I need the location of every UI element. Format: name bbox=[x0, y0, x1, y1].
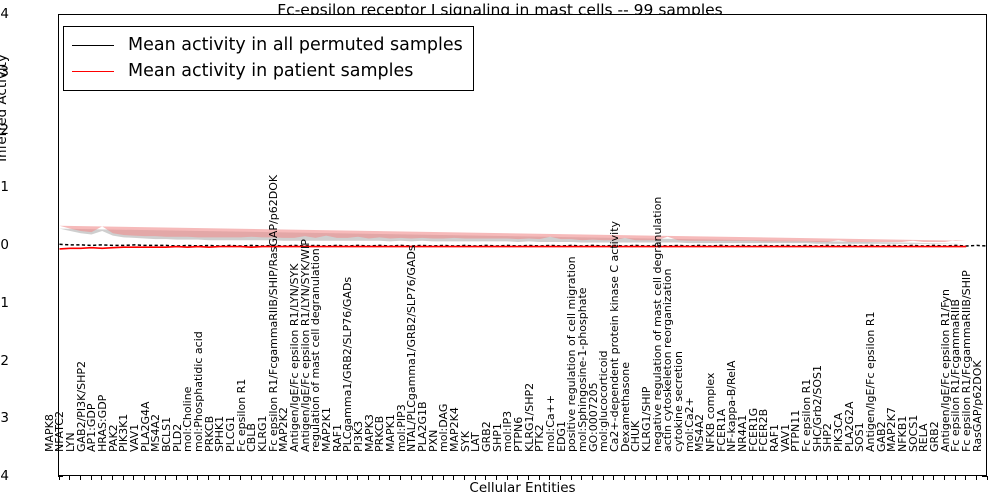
x-tick-mark bbox=[848, 476, 849, 480]
x-tick-mark bbox=[69, 476, 70, 480]
x-tick-mark bbox=[933, 476, 934, 480]
x-tick-mark bbox=[581, 476, 582, 480]
x-tick-mark bbox=[133, 476, 134, 480]
x-tick-mark bbox=[709, 476, 710, 480]
y-tick-label: −1 bbox=[0, 298, 9, 308]
legend-entry-permuted: Mean activity in all permuted samples bbox=[72, 32, 463, 58]
x-tick-mark bbox=[368, 476, 369, 480]
x-tick-mark bbox=[80, 476, 81, 480]
x-tick-mark bbox=[293, 476, 294, 480]
x-tick-mark bbox=[976, 476, 977, 480]
x-tick-mark bbox=[219, 476, 220, 480]
legend-swatch-patient bbox=[72, 71, 114, 72]
x-tick-mark bbox=[283, 476, 284, 480]
x-axis-label: Cellular Entities bbox=[58, 480, 987, 496]
y-tick-label: 2 bbox=[0, 125, 9, 135]
x-tick-mark bbox=[699, 476, 700, 480]
x-tick-mark bbox=[539, 476, 540, 480]
y-tick-label: 3 bbox=[0, 67, 9, 77]
x-tick-mark bbox=[251, 476, 252, 480]
x-tick-mark bbox=[720, 476, 721, 480]
x-tick-mark bbox=[987, 476, 988, 480]
patient-mean-line bbox=[60, 247, 967, 249]
legend-label-patient: Mean activity in patient samples bbox=[128, 62, 413, 80]
x-tick-mark bbox=[891, 476, 892, 480]
x-tick-mark bbox=[763, 476, 764, 480]
legend-swatch-permuted bbox=[72, 45, 114, 46]
x-tick-mark bbox=[645, 476, 646, 480]
x-tick-mark bbox=[528, 476, 529, 480]
x-tick-mark bbox=[741, 476, 742, 480]
x-tick-mark bbox=[155, 476, 156, 480]
x-tick-mark bbox=[336, 476, 337, 480]
x-tick-mark bbox=[549, 476, 550, 480]
x-tick-mark bbox=[357, 476, 358, 480]
y-tick-label: 1 bbox=[0, 182, 9, 192]
y-tick-label: 4 bbox=[0, 9, 9, 19]
legend-entry-patient: Mean activity in patient samples bbox=[72, 58, 463, 84]
x-tick-mark bbox=[59, 476, 60, 480]
x-tick-mark bbox=[603, 476, 604, 480]
x-tick-mark bbox=[112, 476, 113, 480]
x-tick-mark bbox=[955, 476, 956, 480]
x-tick-mark bbox=[176, 476, 177, 480]
x-tick-mark bbox=[123, 476, 124, 480]
x-tick-mark bbox=[773, 476, 774, 480]
y-axis-label: Inferred Activity bbox=[0, 28, 10, 188]
x-tick-mark bbox=[91, 476, 92, 480]
x-tick-mark bbox=[485, 476, 486, 480]
x-tick-mark bbox=[880, 476, 881, 480]
x-tick-mark bbox=[517, 476, 518, 480]
x-tick-mark bbox=[965, 476, 966, 480]
x-tick-mark bbox=[229, 476, 230, 480]
x-tick-mark bbox=[432, 476, 433, 480]
x-tick-mark bbox=[592, 476, 593, 480]
x-tick-mark bbox=[859, 476, 860, 480]
x-tick-mark bbox=[496, 476, 497, 480]
x-tick-mark bbox=[464, 476, 465, 480]
x-tick-mark bbox=[379, 476, 380, 480]
x-tick-mark bbox=[144, 476, 145, 480]
x-tick-mark bbox=[165, 476, 166, 480]
x-tick-mark bbox=[101, 476, 102, 480]
x-tick-mark bbox=[901, 476, 902, 480]
chart-legend: Mean activity in all permuted samples Me… bbox=[63, 26, 474, 91]
x-tick-mark bbox=[560, 476, 561, 480]
y-tick-label: 0 bbox=[0, 240, 9, 250]
x-tick-mark bbox=[869, 476, 870, 480]
x-tick-mark bbox=[507, 476, 508, 480]
x-tick-mark bbox=[315, 476, 316, 480]
x-tick-mark bbox=[197, 476, 198, 480]
x-tick-mark bbox=[400, 476, 401, 480]
x-tick-mark bbox=[304, 476, 305, 480]
x-tick-mark bbox=[613, 476, 614, 480]
x-tick-mark bbox=[261, 476, 262, 480]
x-tick-mark bbox=[752, 476, 753, 480]
x-tick-mark bbox=[240, 476, 241, 480]
x-tick-mark bbox=[187, 476, 188, 480]
x-tick-mark bbox=[816, 476, 817, 480]
x-tick-mark bbox=[475, 476, 476, 480]
x-tick-mark bbox=[923, 476, 924, 480]
x-tick-mark bbox=[688, 476, 689, 480]
x-tick-mark bbox=[347, 476, 348, 480]
x-tick-mark bbox=[443, 476, 444, 480]
x-tick-mark bbox=[677, 476, 678, 480]
x-tick-mark bbox=[411, 476, 412, 480]
x-tick-mark bbox=[325, 476, 326, 480]
x-tick-mark bbox=[837, 476, 838, 480]
x-tick-mark bbox=[795, 476, 796, 480]
y-tick-label: −4 bbox=[0, 471, 9, 481]
y-tick-label: −3 bbox=[0, 413, 9, 423]
x-tick-mark bbox=[389, 476, 390, 480]
x-tick-mark bbox=[656, 476, 657, 480]
x-tick-mark bbox=[912, 476, 913, 480]
legend-label-permuted: Mean activity in all permuted samples bbox=[128, 36, 463, 54]
permuted-mean-line bbox=[60, 244, 988, 246]
x-tick-mark bbox=[827, 476, 828, 480]
x-tick-mark bbox=[272, 476, 273, 480]
x-tick-mark bbox=[784, 476, 785, 480]
x-tick-mark bbox=[635, 476, 636, 480]
x-tick-label: MAPK8 bbox=[44, 414, 55, 452]
x-tick-mark bbox=[731, 476, 732, 480]
y-tick-label: −2 bbox=[0, 356, 9, 366]
x-tick-mark bbox=[944, 476, 945, 480]
x-tick-mark bbox=[624, 476, 625, 480]
x-tick-mark bbox=[805, 476, 806, 480]
x-tick-mark bbox=[453, 476, 454, 480]
chart-figure: Fc-epsilon receptor I signaling in mast … bbox=[0, 0, 1000, 500]
x-tick-mark bbox=[208, 476, 209, 480]
x-tick-mark bbox=[571, 476, 572, 480]
x-tick-mark bbox=[421, 476, 422, 480]
x-tick-mark bbox=[667, 476, 668, 480]
